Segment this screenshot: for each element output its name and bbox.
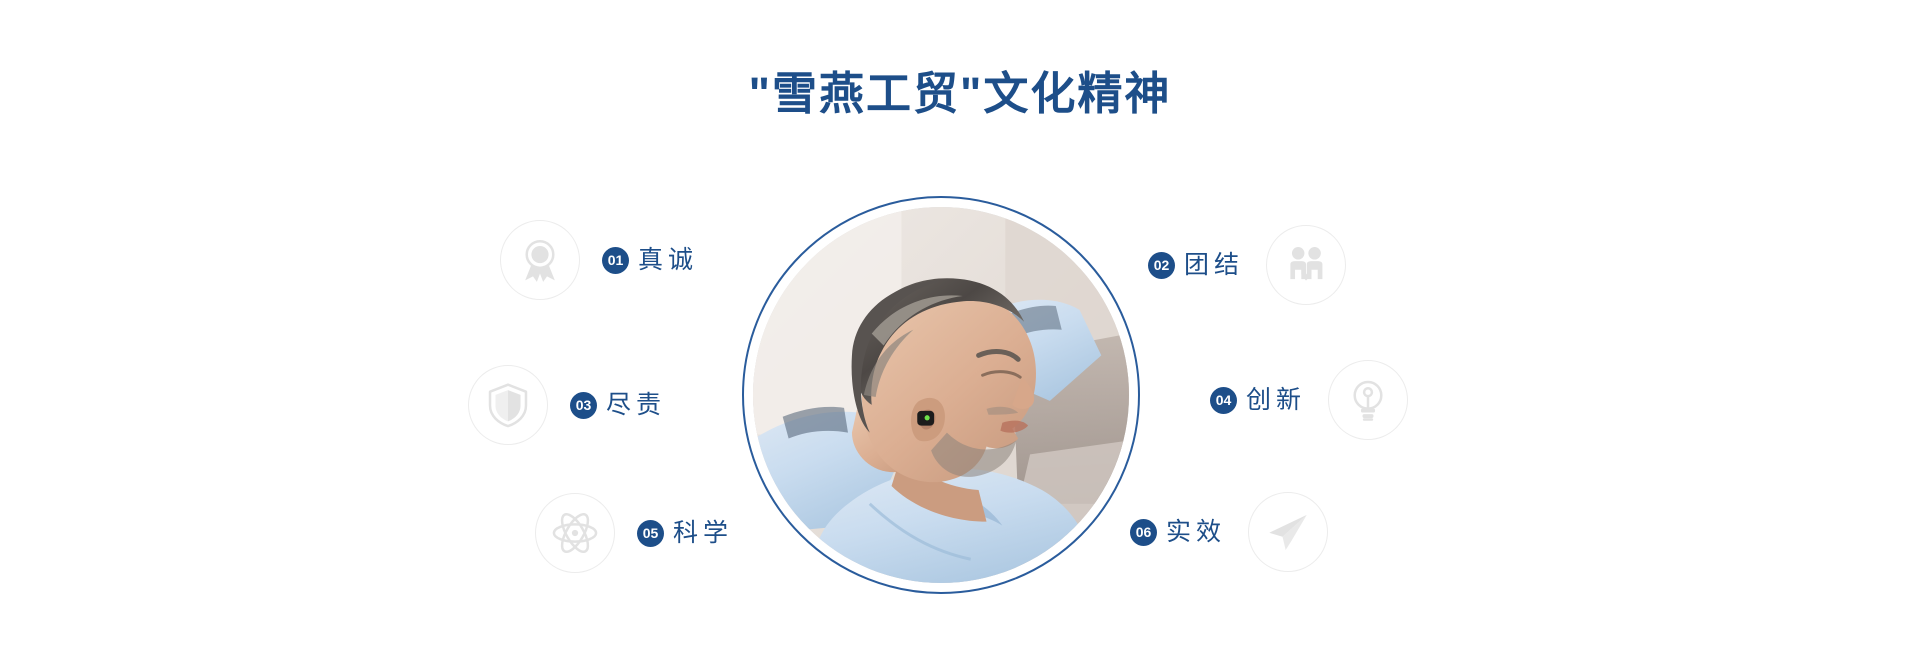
feature-number-badge-01: 01 xyxy=(602,247,629,274)
ribbon-medal-icon xyxy=(500,220,580,300)
feature-label-group-06: 06 实效 xyxy=(1130,519,1226,546)
feature-number-badge-06: 06 xyxy=(1130,519,1157,546)
feature-item-02[interactable]: 02 团结 xyxy=(1148,220,1346,310)
feature-label-group-02: 02 团结 xyxy=(1148,252,1244,279)
feature-item-01[interactable]: 01 真诚 xyxy=(500,215,698,305)
feature-label-group-05: 05 科学 xyxy=(637,520,733,547)
feature-label-03: 尽责 xyxy=(606,393,666,418)
feature-item-04[interactable]: 04 创新 xyxy=(1210,355,1408,445)
two-people-icon xyxy=(1266,225,1346,305)
feature-number-badge-04: 04 xyxy=(1210,387,1237,414)
feature-label-01: 真诚 xyxy=(638,248,698,273)
shield-icon xyxy=(468,365,548,445)
feature-label-04: 创新 xyxy=(1246,388,1306,413)
lightbulb-icon xyxy=(1328,360,1408,440)
feature-label-02: 团结 xyxy=(1184,253,1244,278)
feature-number-badge-05: 05 xyxy=(637,520,664,547)
feature-label-group-04: 04 创新 xyxy=(1210,387,1306,414)
page-title: "雪燕工贸"文化精神 xyxy=(0,68,1920,120)
feature-label-group-03: 03 尽责 xyxy=(570,392,666,419)
feature-item-06[interactable]: 06 实效 xyxy=(1130,487,1328,577)
atom-icon xyxy=(535,493,615,573)
feature-number-badge-03: 03 xyxy=(570,392,597,419)
paper-plane-icon xyxy=(1248,492,1328,572)
center-photo-circle xyxy=(742,196,1140,594)
feature-number-badge-02: 02 xyxy=(1148,252,1175,279)
feature-label-05: 科学 xyxy=(673,521,733,546)
feature-label-group-01: 01 真诚 xyxy=(602,247,698,274)
feature-label-06: 实效 xyxy=(1166,520,1226,545)
feature-item-05[interactable]: 05 科学 xyxy=(535,488,733,578)
culture-spirit-section: "雪燕工贸"文化精神 xyxy=(0,0,1920,650)
feature-item-03[interactable]: 03 尽责 xyxy=(468,360,666,450)
center-photo xyxy=(753,207,1129,583)
